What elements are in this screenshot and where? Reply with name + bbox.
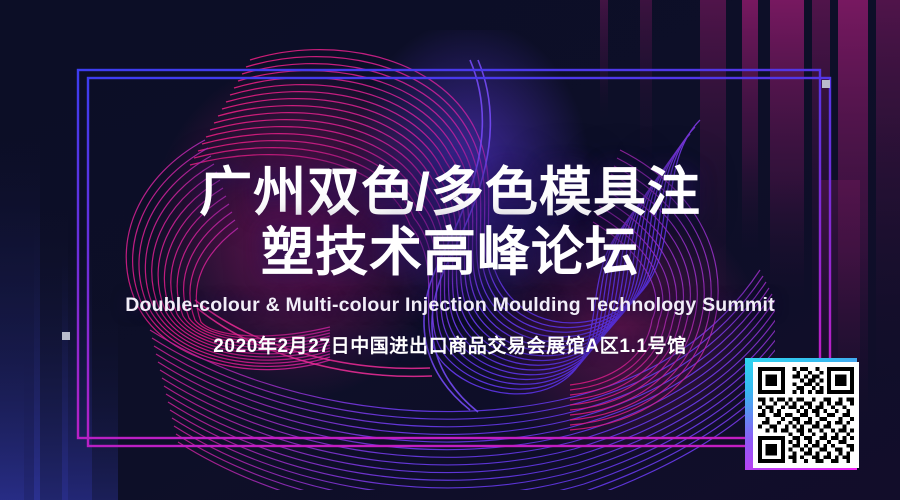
title-line-2: 塑技术高峰论坛: [0, 223, 900, 283]
qr-matrix: [758, 367, 854, 463]
qr-code-block[interactable]: [745, 358, 863, 476]
subtitle-english: Double-colour & Multi-colour Injection M…: [0, 294, 900, 317]
headline-block: 广州双色/多色模具注 塑技术高峰论坛 Double-colour & Multi…: [0, 163, 900, 358]
event-date-venue: 2020年2月27日中国进出口商品交易会展馆A区1.1号馆: [0, 331, 900, 358]
qr-code-image[interactable]: [753, 362, 859, 468]
event-banner: 广州双色/多色模具注 塑技术高峰论坛 Double-colour & Multi…: [0, 0, 900, 500]
frame-marker-right: [822, 80, 830, 88]
title-line-1: 广州双色/多色模具注: [0, 163, 900, 223]
